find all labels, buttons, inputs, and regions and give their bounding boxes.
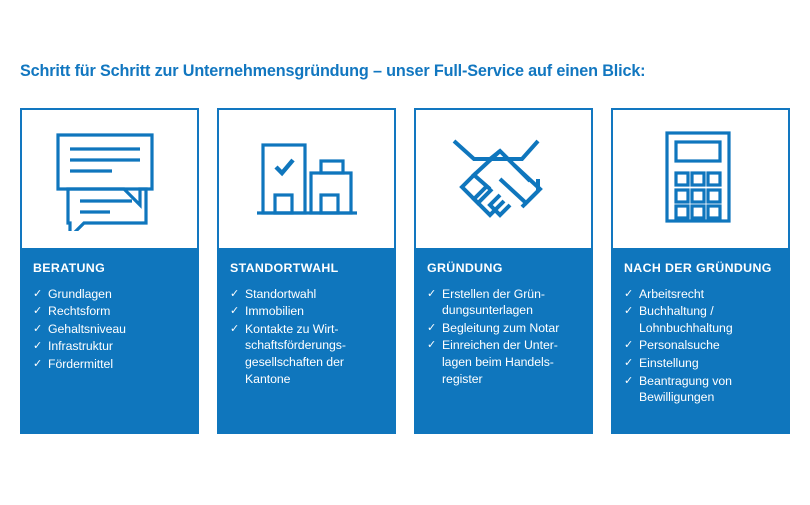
infographic-root: Schritt für Schritt zur Unternehmensgrün… (0, 0, 810, 505)
panel-nach-der-gruendung: NACH DER GRÜNDUNG ✓Arbeitsrecht ✓Buchhal… (611, 248, 790, 434)
list-item: ✓Einstellung (624, 355, 777, 372)
item-list: ✓Standortwahl ✓Immobilien ✓Kontakte zu W… (230, 286, 383, 388)
check-icon: ✓ (230, 303, 239, 320)
list-item: ✓Buchhaltung / Lohnbuchhaltung (624, 303, 777, 336)
check-icon: ✓ (624, 286, 633, 303)
list-item: ✓Infrastruktur (33, 338, 186, 355)
list-item-label: Infrastruktur (48, 339, 113, 353)
card-nach-der-gruendung[interactable]: NACH DER GRÜNDUNG ✓Arbeitsrecht ✓Buchhal… (611, 108, 790, 434)
check-icon: ✓ (33, 356, 42, 373)
list-item-label: Begleitung zum Notar (442, 321, 559, 335)
list-item-label: Immobilien (245, 304, 304, 318)
panel-standortwahl: STANDORTWAHL ✓Standortwahl ✓Immobilien ✓… (217, 248, 396, 434)
list-item-label: Erstellen der Grün- dungsunterlagen (442, 287, 545, 318)
list-item-label: Gehaltsniveau (48, 322, 126, 336)
card-title: STANDORTWAHL (230, 262, 383, 276)
icon-area-nach-der-gruendung (613, 110, 788, 248)
card-gruendung[interactable]: GRÜNDUNG ✓Erstellen der Grün- dungsunter… (414, 108, 593, 434)
check-icon: ✓ (624, 337, 633, 354)
list-item-label: Kontakte zu Wirt- schaftsförderungs- ges… (245, 322, 346, 386)
speech-bubbles-icon (54, 127, 166, 231)
list-item-label: Einstellung (639, 356, 699, 370)
panel-gruendung: GRÜNDUNG ✓Erstellen der Grün- dungsunter… (414, 248, 593, 434)
list-item: ✓Einreichen der Unter- lagen beim Handel… (427, 337, 580, 387)
handshake-icon (452, 133, 556, 225)
item-list: ✓Arbeitsrecht ✓Buchhaltung / Lohnbuchhal… (624, 286, 777, 406)
list-item: ✓Gehaltsniveau (33, 321, 186, 338)
card-standortwahl[interactable]: STANDORTWAHL ✓Standortwahl ✓Immobilien ✓… (217, 108, 396, 434)
check-icon: ✓ (230, 286, 239, 303)
check-icon: ✓ (427, 286, 436, 303)
card-beratung[interactable]: BERATUNG ✓Grundlagen ✓Rechtsform ✓Gehalt… (20, 108, 199, 434)
list-item: ✓Kontakte zu Wirt- schaftsförderungs- ge… (230, 321, 383, 387)
check-icon: ✓ (624, 355, 633, 372)
page-title: Schritt für Schritt zur Unternehmensgrün… (20, 62, 800, 81)
check-icon: ✓ (33, 286, 42, 303)
list-item-label: Grundlagen (48, 287, 112, 301)
calculator-icon (664, 130, 738, 228)
list-item: ✓Grundlagen (33, 286, 186, 303)
check-icon: ✓ (624, 373, 633, 390)
list-item-label: Beantragung von Bewilligungen (639, 374, 732, 405)
check-icon: ✓ (33, 338, 42, 355)
item-list: ✓Grundlagen ✓Rechtsform ✓Gehaltsniveau ✓… (33, 286, 186, 373)
check-icon: ✓ (230, 321, 239, 338)
list-item: ✓Fördermittel (33, 356, 186, 373)
buildings-check-icon (255, 133, 359, 225)
list-item: ✓Beantragung von Bewilligungen (624, 373, 777, 406)
list-item-label: Fördermittel (48, 357, 113, 371)
list-item-label: Einreichen der Unter- lagen beim Handels… (442, 338, 558, 385)
list-item: ✓Erstellen der Grün- dungsunterlagen (427, 286, 580, 319)
icon-area-beratung (22, 110, 197, 248)
list-item: ✓Standortwahl (230, 286, 383, 303)
list-item-label: Buchhaltung / Lohnbuchhaltung (639, 304, 733, 335)
list-item-label: Rechtsform (48, 304, 110, 318)
check-icon: ✓ (427, 337, 436, 354)
card-title: BERATUNG (33, 262, 186, 276)
icon-area-gruendung (416, 110, 591, 248)
list-item: ✓Personalsuche (624, 337, 777, 354)
check-icon: ✓ (33, 303, 42, 320)
list-item-label: Standortwahl (245, 287, 316, 301)
list-item: ✓Begleitung zum Notar (427, 320, 580, 337)
list-item: ✓Rechtsform (33, 303, 186, 320)
panel-beratung: BERATUNG ✓Grundlagen ✓Rechtsform ✓Gehalt… (20, 248, 199, 434)
check-icon: ✓ (427, 320, 436, 337)
check-icon: ✓ (624, 303, 633, 320)
card-title: GRÜNDUNG (427, 262, 580, 276)
card-title: NACH DER GRÜNDUNG (624, 262, 777, 276)
list-item-label: Arbeitsrecht (639, 287, 704, 301)
check-icon: ✓ (33, 321, 42, 338)
icon-area-standortwahl (219, 110, 394, 248)
card-row: BERATUNG ✓Grundlagen ✓Rechtsform ✓Gehalt… (20, 108, 790, 434)
item-list: ✓Erstellen der Grün- dungsunterlagen ✓Be… (427, 286, 580, 388)
list-item-label: Personalsuche (639, 338, 720, 352)
list-item: ✓Immobilien (230, 303, 383, 320)
list-item: ✓Arbeitsrecht (624, 286, 777, 303)
